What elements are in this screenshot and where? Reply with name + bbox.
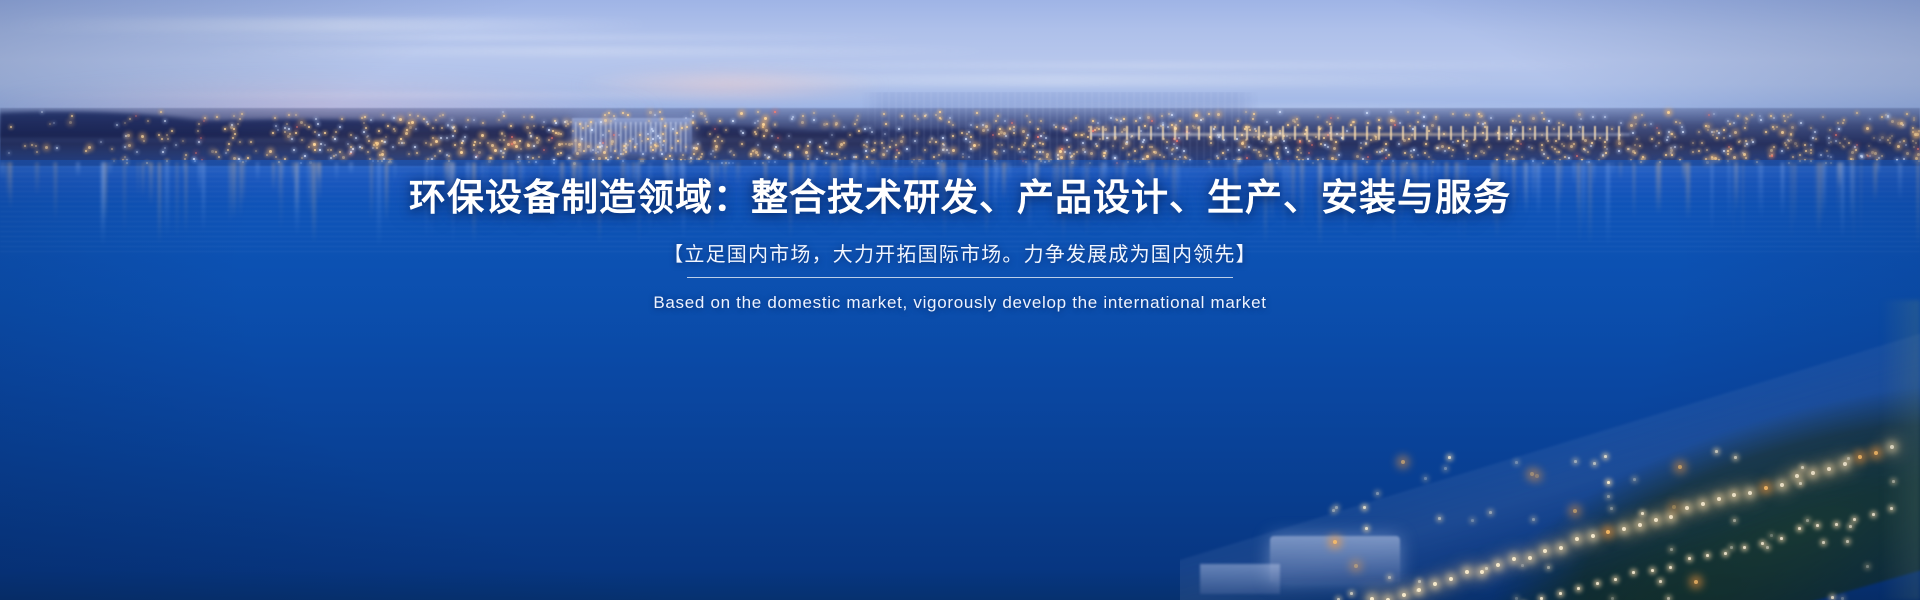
hero-banner: 环保设备制造领域：整合技术研发、产品设计、生产、安装与服务 【立足国内市场，大力…: [0, 0, 1920, 600]
divider-rule: [687, 277, 1233, 278]
banner-english-tagline: Based on the domestic market, vigorously…: [653, 293, 1266, 313]
banner-text-overlay: 环保设备制造领域：整合技术研发、产品设计、生产、安装与服务 【立足国内市场，大力…: [0, 0, 1920, 600]
banner-subheadline: 【立足国内市场，大力开拓国际市场。力争发展成为国内领先】: [663, 242, 1257, 268]
banner-headline: 环保设备制造领域：整合技术研发、产品设计、生产、安装与服务: [409, 176, 1511, 220]
